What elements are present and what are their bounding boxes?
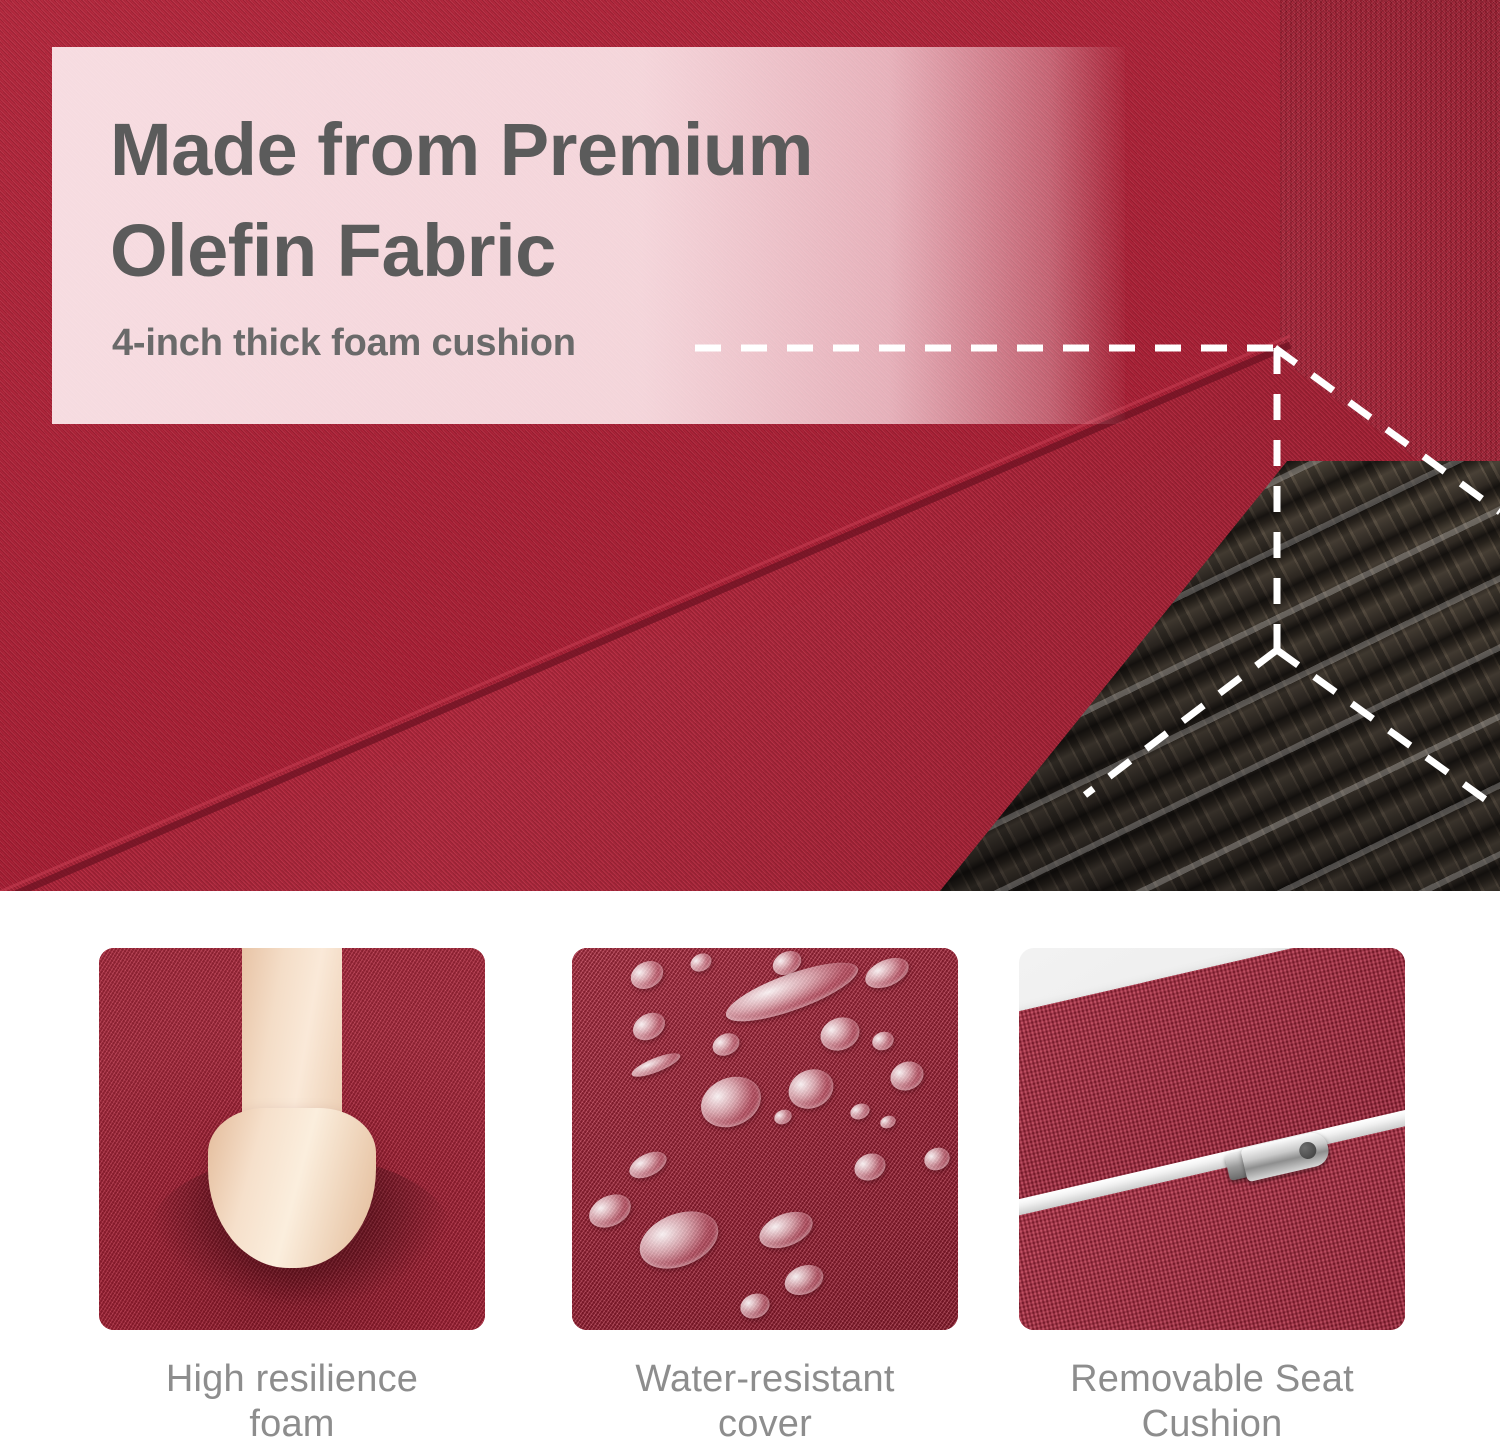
feature-card-water-resistant-cover	[572, 948, 958, 1330]
feature-caption-water-resistant-cover: Water-resistant cover	[572, 1357, 958, 1440]
caption-line-2: foam	[249, 1403, 334, 1440]
caption-line-2: cover	[718, 1403, 812, 1440]
callout-diagonal-bottom-line	[1085, 650, 1277, 795]
feature-card-removable-seat-cushion	[1019, 948, 1405, 1330]
feature-card-high-resilience-foam	[99, 948, 485, 1330]
caption-line-1: High resilience	[166, 1358, 418, 1400]
hero-image: Made from Premium Olefin Fabric 4-inch t…	[0, 0, 1500, 891]
feature-caption-high-resilience-foam: High resilience foam	[99, 1357, 485, 1440]
feature-strip: High resilience foam Water-resistant cov…	[0, 891, 1500, 1440]
callout-diagonal-top-line	[1275, 348, 1500, 512]
product-feature-page: Made from Premium Olefin Fabric 4-inch t…	[0, 0, 1500, 1440]
feature-caption-removable-seat-cushion: Removable Seat Cushion	[1019, 1357, 1405, 1440]
caption-line-2: Cushion	[1142, 1403, 1283, 1440]
caption-line-1: Removable Seat	[1070, 1358, 1354, 1400]
callout-diagonal-bottom-right-line	[1277, 650, 1500, 810]
thickness-callout-lines	[0, 0, 1500, 891]
caption-line-1: Water-resistant	[635, 1358, 894, 1400]
